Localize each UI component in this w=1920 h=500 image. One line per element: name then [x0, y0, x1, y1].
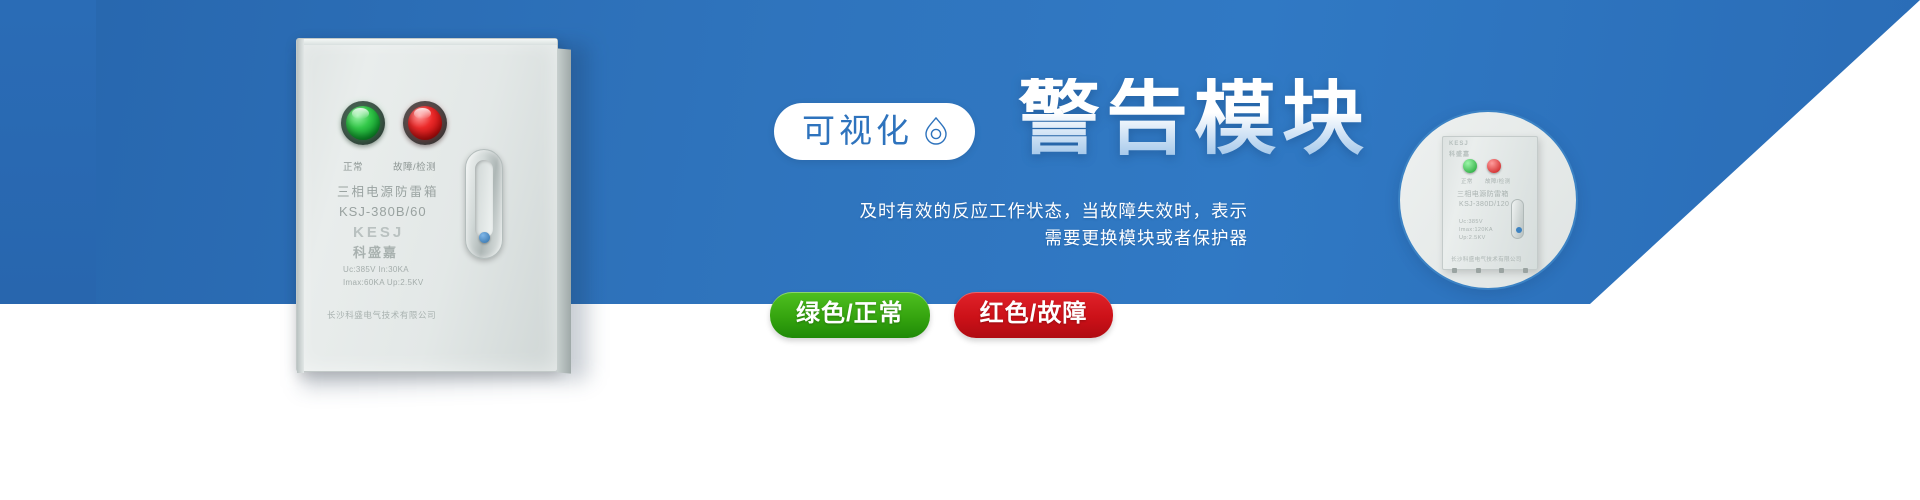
visualization-pill: 可视化	[774, 103, 975, 160]
inset-lamp-label-fault: 故障/检测	[1485, 177, 1511, 185]
enclosure-right-side	[557, 48, 571, 373]
spec-line-1: Uc:385V In:30KA	[343, 265, 409, 274]
visualization-pill-label: 可视化	[802, 114, 913, 147]
indicator-lamp-red	[403, 101, 447, 145]
lamp-label-fault: 故障/检测	[393, 159, 436, 173]
control-box-enclosure: 正常 故障/检测 三相电源防雷箱 KSJ-380B/60 KESJ 科盛嘉 Uc…	[296, 38, 558, 372]
background-blue-left-strip	[0, 0, 96, 304]
inset-door-handle	[1511, 199, 1524, 239]
subtitle-line-1: 及时有效的反应工作状态，当故障失效时，表示	[860, 198, 1249, 225]
status-badge-group: 绿色/正常 红色/故障	[770, 292, 1113, 338]
subtitle-line-2: 需要更换模块或者保护器	[1045, 225, 1249, 252]
inset-lamp-red	[1487, 159, 1501, 173]
inset-handle-screw-icon	[1516, 227, 1522, 233]
lamp-label-normal: 正常	[343, 159, 363, 173]
enclosure-top-edge	[297, 39, 557, 45]
product-title-text: 三相电源防雷箱	[337, 181, 439, 200]
inset-brand-en: KESJ	[1449, 141, 1469, 147]
spec-line-2: Imax:60KA Up:2.5KV	[343, 278, 424, 287]
handle-screw-icon	[479, 232, 490, 243]
inset-lamp-green	[1463, 159, 1477, 173]
product-detail-circle-inset: KESJ 科盛嘉 正常 故障/检测 三相电源防雷箱 KSJ-380D/120 U…	[1398, 110, 1578, 290]
enclosure-left-edge	[297, 39, 304, 373]
inset-model: KSJ-380D/120	[1459, 201, 1509, 208]
product-model-text: KSJ-380B/60	[339, 204, 427, 219]
banner-copy: 可视化 警告模块 及时有效的反应工作状态，当故障失效时，表示 需要更换模块或者保…	[760, 0, 1520, 500]
inset-spec-1: Uc:385V	[1459, 219, 1483, 225]
promo-banner: 正常 故障/检测 三相电源防雷箱 KSJ-380B/60 KESJ 科盛嘉 Uc…	[0, 0, 1920, 500]
badge-green-normal: 绿色/正常	[770, 292, 930, 338]
inset-mounting-feet	[1452, 268, 1528, 273]
inset-brand-cn: 科盛嘉	[1449, 149, 1470, 158]
inset-company: 长沙科盛电气技术有限公司	[1451, 255, 1522, 263]
visibility-marker-icon	[923, 116, 949, 146]
door-handle	[465, 149, 503, 259]
handle-slot	[475, 160, 493, 238]
inset-lamp-label-normal: 正常	[1461, 177, 1473, 185]
product-photo: 正常 故障/检测 三相电源防雷箱 KSJ-380B/60 KESJ 科盛嘉 Uc…	[96, 0, 656, 500]
badge-red-fault: 红色/故障	[954, 292, 1114, 338]
inset-spec-3: Up:2.5KV	[1459, 235, 1486, 241]
brand-logo-en: KESJ	[353, 224, 404, 241]
inset-control-box: KESJ 科盛嘉 正常 故障/检测 三相电源防雷箱 KSJ-380D/120 U…	[1442, 136, 1538, 270]
page-title: 警告模块	[1018, 78, 1370, 160]
inset-spec-2: Imax:120KA	[1459, 227, 1493, 233]
inset-title: 三相电源防雷箱	[1457, 189, 1509, 199]
indicator-lamp-green	[341, 101, 385, 145]
brand-logo-cn: 科盛嘉	[353, 242, 398, 261]
company-name-text: 长沙科盛电气技术有限公司	[327, 309, 436, 321]
